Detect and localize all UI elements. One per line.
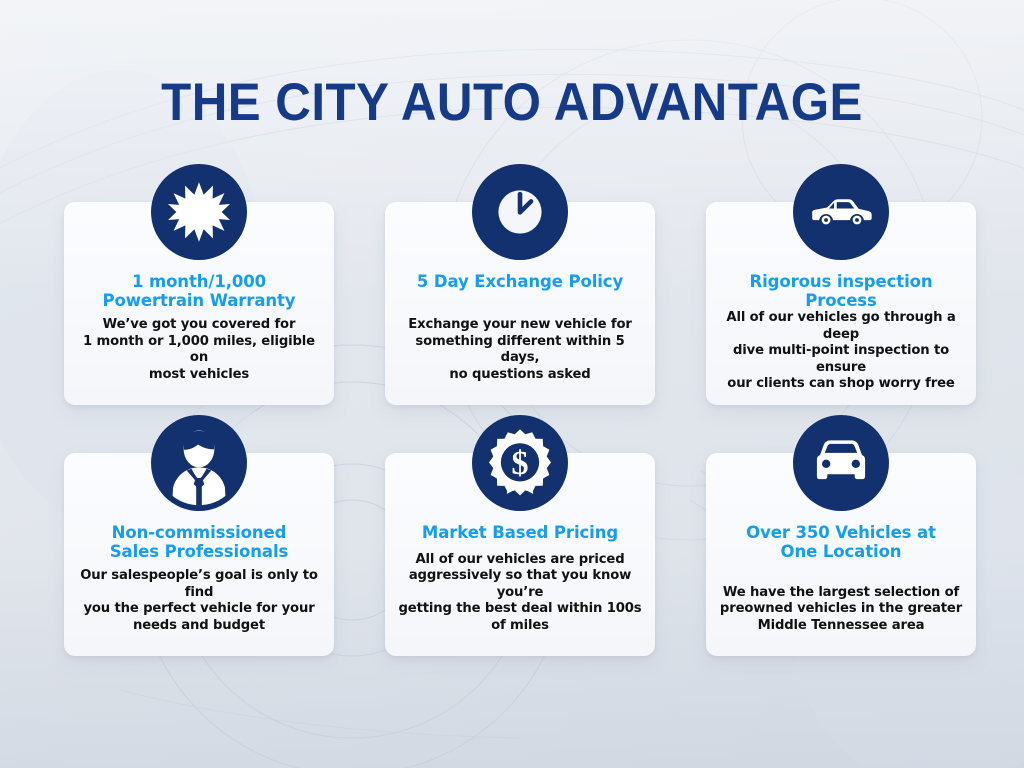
starburst-icon (151, 164, 247, 260)
card-description: We have the largest selection of preowne… (720, 585, 962, 635)
card-body: Rigorous inspection Process All of our v… (706, 268, 976, 397)
advantage-card: Rigorous inspection Process All of our v… (706, 202, 976, 405)
advantage-card: $ Market Based Pricing All of our vehicl… (385, 453, 655, 656)
card-description: All of our vehicles are priced aggressiv… (395, 552, 645, 635)
card-description: All of our vehicles go through a deep di… (716, 310, 966, 393)
card-heading: 5 Day Exchange Policy (417, 272, 623, 291)
card-heading: Market Based Pricing (422, 523, 618, 542)
card-body: 1 month/1,000 Powertrain Warranty We’ve … (64, 268, 334, 397)
page-title: THE CITY AUTO ADVANTAGE (36, 72, 988, 133)
advantage-card: 5 Day Exchange Policy Exchange your new … (385, 202, 655, 405)
advantage-card: Non-commissioned Sales Professionals Our… (64, 453, 334, 656)
car-front-icon (793, 415, 889, 511)
card-description: Our salespeople’s goal is only to find y… (74, 568, 324, 634)
dollar-badge-icon: $ (472, 415, 568, 511)
card-heading: Over 350 Vehicles at One Location (746, 523, 936, 561)
card-body: 5 Day Exchange Policy Exchange your new … (385, 268, 655, 397)
car-side-icon (793, 164, 889, 260)
advantage-card: 1 month/1,000 Powertrain Warranty We’ve … (64, 202, 334, 405)
card-body: Non-commissioned Sales Professionals Our… (64, 519, 334, 648)
svg-text:$: $ (511, 444, 528, 482)
infographic-canvas: THE CITY AUTO ADVANTAGE 1 month/1,000 Po… (0, 0, 1024, 768)
card-heading: 1 month/1,000 Powertrain Warranty (103, 272, 296, 310)
advantage-card: Over 350 Vehicles at One Location We hav… (706, 453, 976, 656)
salesperson-icon (151, 415, 247, 511)
card-heading: Rigorous inspection Process (749, 272, 932, 310)
card-description: We’ve got you covered for 1 month or 1,0… (74, 317, 324, 383)
card-heading: Non-commissioned Sales Professionals (110, 523, 288, 561)
card-body: Market Based Pricing All of our vehicles… (385, 519, 655, 648)
card-body: Over 350 Vehicles at One Location We hav… (706, 519, 976, 648)
advantage-card-grid: 1 month/1,000 Powertrain Warranty We’ve … (64, 202, 976, 656)
clock-icon (472, 164, 568, 260)
card-description: Exchange your new vehicle for something … (395, 317, 645, 383)
